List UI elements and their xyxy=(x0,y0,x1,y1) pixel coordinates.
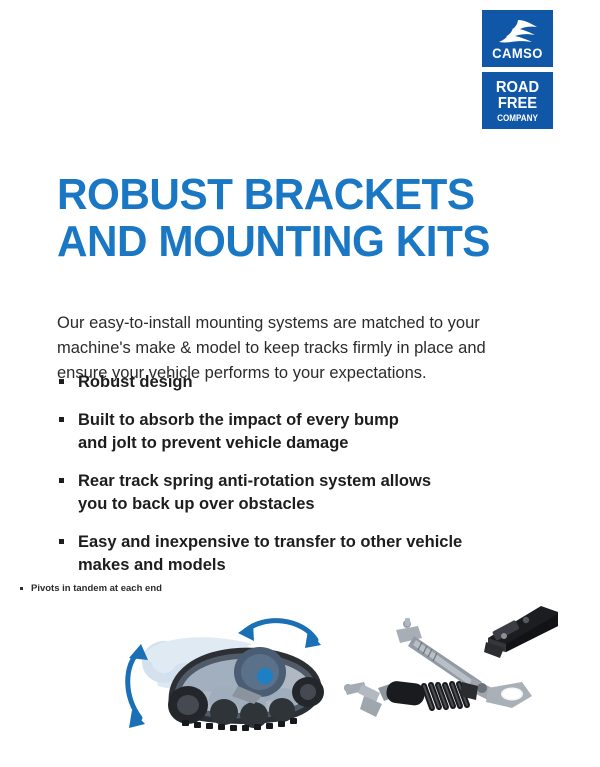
square-bullet-icon xyxy=(20,587,23,590)
logo-line-road: ROAD xyxy=(485,80,550,96)
list-item-line-2: and jolt to prevent vehicle damage xyxy=(78,432,537,455)
pivot-arrow-left xyxy=(128,644,148,728)
list-item-line-1: Built to absorb the impact of every bump xyxy=(78,409,537,432)
road-free-company-logo: ROAD FREE COMPANY xyxy=(482,72,553,129)
mounting-hardware-photo xyxy=(336,596,568,726)
road-free-company-wordmark: ROAD FREE COMPANY xyxy=(482,80,553,123)
anti-rotation-spring xyxy=(344,680,478,717)
intro-line-1: Our easy-to-install mounting systems are… xyxy=(57,311,527,336)
square-bullet-icon xyxy=(59,478,64,483)
rubber-track-system-diagram xyxy=(112,600,337,740)
list-item: Robust design xyxy=(57,371,537,394)
idler-wheel-front-hub xyxy=(177,695,199,715)
footnote: Pivots in tandem at each end xyxy=(20,583,162,595)
bogie-wheel-2 xyxy=(240,702,268,728)
square-bullet-icon xyxy=(59,539,64,544)
list-item-line-2: makes and models xyxy=(78,554,537,577)
brand-logo-block: CAMSO ROAD FREE COMPANY xyxy=(482,10,553,129)
camso-logo: CAMSO xyxy=(482,10,553,67)
logo-line-company: COMPANY xyxy=(486,114,550,123)
list-item-line-2: you to back up over obstacles xyxy=(78,493,537,516)
footnote-text: Pivots in tandem at each end xyxy=(31,583,162,594)
figure-area xyxy=(0,596,600,756)
page-title-line-1: ROBUST BRACKETS xyxy=(57,171,499,218)
sprocket-hub xyxy=(257,668,273,684)
logo-line-free: FREE xyxy=(485,96,550,112)
mounting-bracket xyxy=(484,606,558,658)
page-title: ROBUST BRACKETS AND MOUNTING KITS xyxy=(57,171,499,265)
idler-wheel-rear-hub xyxy=(300,684,316,700)
bogie-wheel-1 xyxy=(210,699,238,725)
intro-line-2: machine's make & model to keep tracks fi… xyxy=(57,336,527,361)
square-bullet-icon xyxy=(59,379,64,384)
list-item: Built to absorb the impact of every bump… xyxy=(57,409,537,455)
list-item-line-1: Easy and inexpensive to transfer to othe… xyxy=(78,531,537,554)
list-item: Easy and inexpensive to transfer to othe… xyxy=(57,531,537,577)
page-title-line-2: AND MOUNTING KITS xyxy=(57,218,499,265)
list-item: Rear track spring anti-rotation system a… xyxy=(57,470,537,516)
camso-chevron-icon xyxy=(497,19,539,43)
list-item-line-1: Robust design xyxy=(78,371,537,394)
square-bullet-icon xyxy=(59,417,64,422)
feature-list: Robust design Built to absorb the impact… xyxy=(57,371,537,577)
list-item-line-1: Rear track spring anti-rotation system a… xyxy=(78,470,537,493)
camso-wordmark: CAMSO xyxy=(484,46,550,60)
